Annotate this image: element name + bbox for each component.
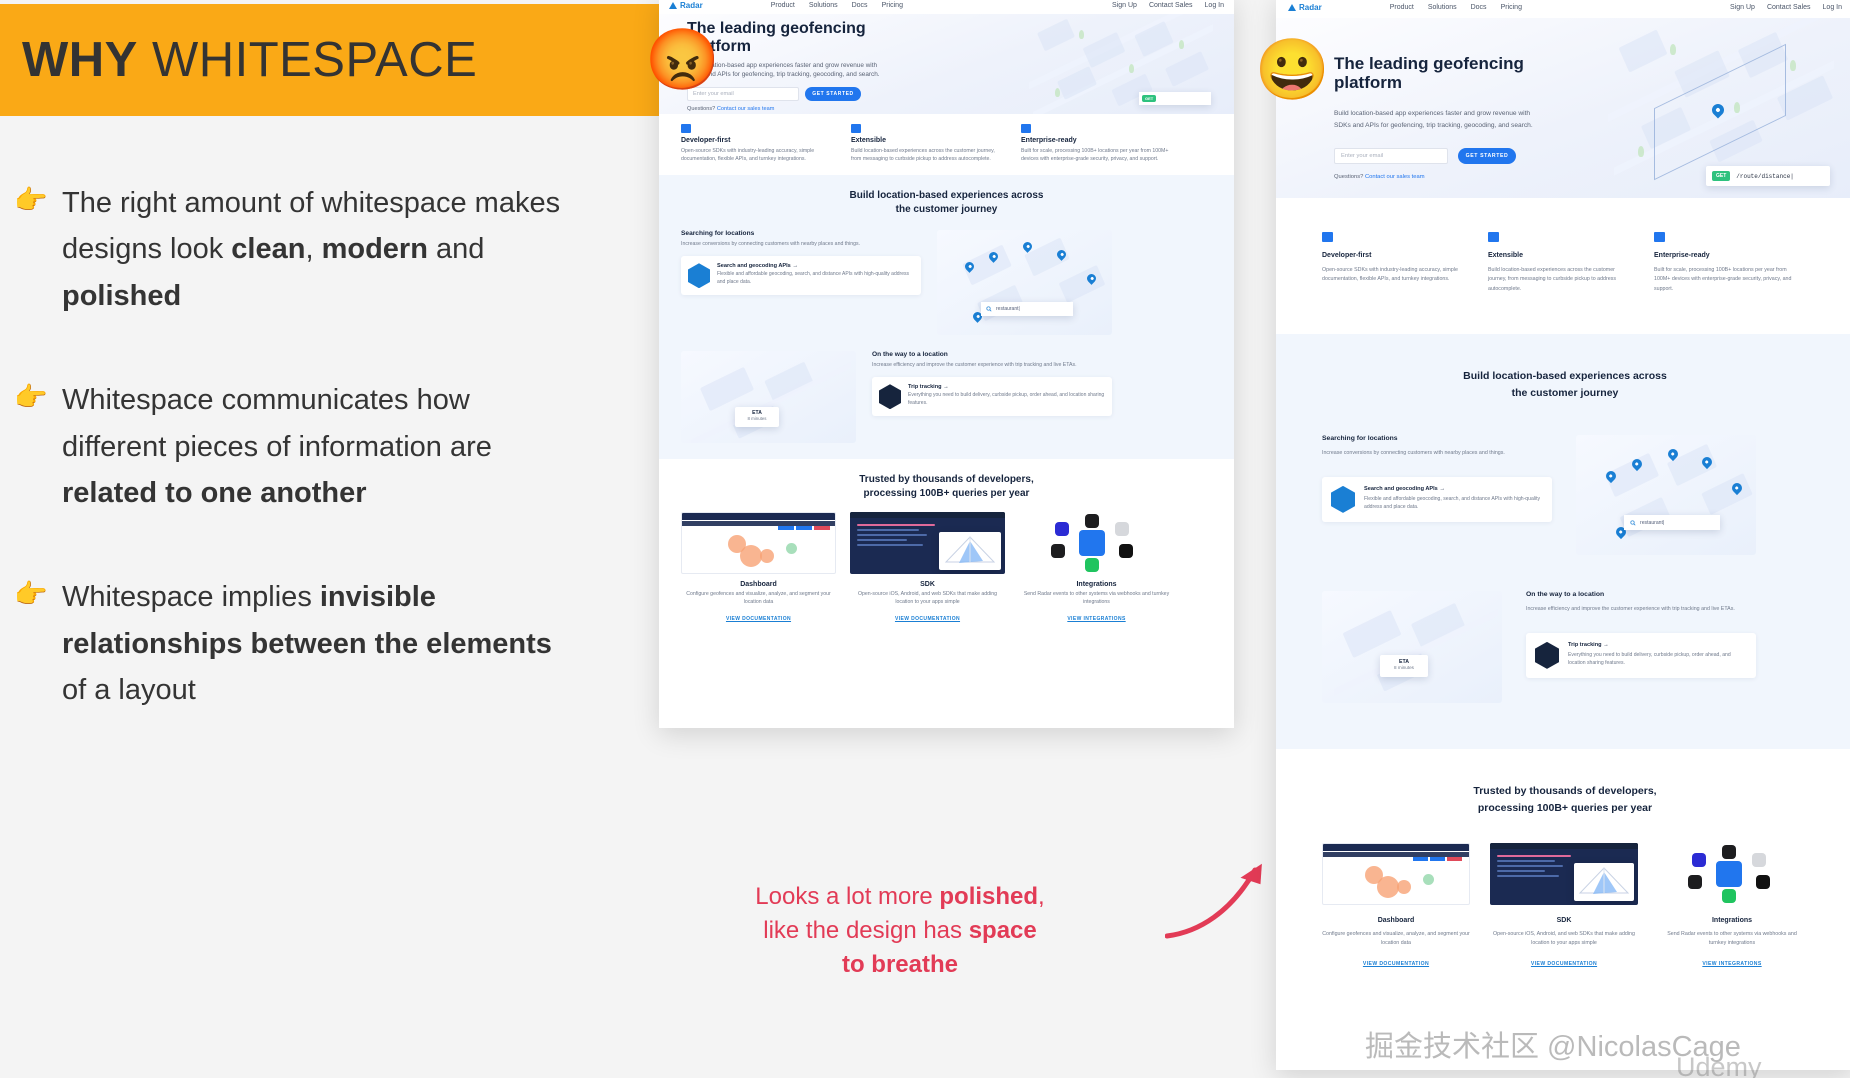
sliders-icon: [1488, 232, 1499, 242]
page-title-bold: WHY: [22, 33, 138, 87]
trip-pin-icon: [879, 384, 901, 409]
annotation-line-1: Looks a lot more polished,: [700, 880, 1100, 914]
feature-enterprise-ready: Enterprise-ready Built for scale, proces…: [1654, 232, 1794, 294]
annotation-emph: space: [969, 917, 1037, 944]
dashboard-screenshot: [681, 512, 836, 574]
page-title-rest: WHITESPACE: [138, 33, 477, 87]
search-api-card[interactable]: Search and geocoding APIs → Flexible and…: [1322, 477, 1552, 522]
isometric-city-illustration: GET /route/distance|: [1594, 18, 1850, 198]
annotation-emph: polished: [939, 883, 1038, 910]
get-started-button[interactable]: GET STARTED: [1458, 148, 1516, 164]
integrations-diagram: [1658, 843, 1806, 905]
nav-product[interactable]: Product: [1390, 4, 1414, 11]
journey-block-2: ETA 8 minutes On the way to a location I…: [681, 351, 1212, 443]
bullet-emph: clean: [231, 233, 305, 265]
bullet-text: Whitespace implies invisible relationshi…: [62, 574, 562, 713]
nav-pricing[interactable]: Pricing: [882, 2, 903, 9]
nav-solutions[interactable]: Solutions: [1428, 4, 1457, 11]
view-documentation-link[interactable]: VIEW DOCUMENTATION: [726, 616, 791, 622]
contact-sales-link[interactable]: Contact our sales team: [717, 106, 775, 112]
trusted-section: Trusted by thousands of developers, proc…: [1276, 749, 1850, 999]
view-documentation-link[interactable]: VIEW DOCUMENTATION: [1531, 961, 1597, 967]
title-banner: WHY WHITESPACE: [0, 4, 660, 116]
bullet-text: The right amount of whitespace makes des…: [62, 180, 562, 319]
hero-section: GET /route/distance| The leading geofenc…: [1276, 18, 1850, 198]
list-item: 👉 Whitespace implies invisible relations…: [0, 574, 600, 713]
nav-docs[interactable]: Docs: [1471, 4, 1487, 11]
nav-right: Sign Up Contact Sales Log In: [1112, 2, 1224, 9]
annotation-part: like the design has: [763, 917, 968, 944]
trusted-heading: Trusted by thousands of developers, proc…: [681, 473, 1212, 500]
brand-name: Radar: [680, 1, 703, 10]
page-title: WHY WHITESPACE: [0, 32, 477, 88]
hero-subtext: Build location-based app experiences fas…: [687, 61, 937, 80]
map-illustration-trip: ETA 8 minutes: [681, 351, 856, 443]
brand-name: Radar: [1299, 3, 1322, 12]
list-item: 👉 The right amount of whitespace makes d…: [0, 180, 600, 319]
bullet-part: and: [428, 233, 484, 265]
contact-sales-link[interactable]: Contact our sales team: [1365, 174, 1425, 180]
view-documentation-link[interactable]: VIEW DOCUMENTATION: [1363, 961, 1429, 967]
bullet-part: Whitespace implies: [62, 581, 320, 613]
trusted-section: Trusted by thousands of developers, proc…: [659, 459, 1234, 639]
radar-chart-icon: [1574, 863, 1634, 901]
nav-contact-sales[interactable]: Contact Sales: [1767, 4, 1811, 11]
email-field[interactable]: Enter your email: [1334, 148, 1448, 164]
nav-pricing[interactable]: Pricing: [1501, 4, 1522, 11]
dashboard-screenshot: [1322, 843, 1470, 905]
trusted-columns: Dashboard Configure geofences and visual…: [681, 512, 1212, 625]
feature-extensible: Extensible Build location-based experien…: [1488, 232, 1628, 294]
trusted-columns: Dashboard Configure geofences and visual…: [1322, 843, 1808, 970]
hero-section: GET The leading geofencing platform Buil…: [659, 14, 1234, 114]
angry-face-emoji: 😡: [645, 30, 720, 90]
sdk-screenshot: [1490, 843, 1638, 905]
bullet-emph: polished: [62, 280, 181, 312]
map-illustration-search: restaurant|: [1576, 435, 1756, 555]
feature-developer-first: Developer-first Open-source SDKs with in…: [1322, 232, 1462, 294]
feature-strip: Developer-first Open-source SDKs with in…: [659, 114, 1234, 175]
trusted-integrations: Integrations Send Radar events to other …: [1658, 843, 1806, 970]
search-pin-icon: [1331, 486, 1355, 513]
view-documentation-link[interactable]: VIEW DOCUMENTATION: [895, 616, 960, 622]
terminal-icon: [681, 124, 691, 133]
map-search-input[interactable]: restaurant|: [981, 302, 1073, 316]
nav-main: Product Solutions Docs Pricing: [771, 2, 903, 9]
feature-extensible: Extensible Build location-based experien…: [851, 124, 1001, 163]
journey-block-1: Searching for locations Increase convers…: [681, 230, 1212, 335]
nav-docs[interactable]: Docs: [852, 2, 868, 9]
sliders-icon: [851, 124, 861, 133]
annotation-part: Looks a lot more: [755, 883, 939, 910]
radar-app-icon: [1079, 530, 1105, 556]
radar-chart-icon: [939, 532, 1001, 570]
trusted-dashboard: Dashboard Configure geofences and visual…: [1322, 843, 1470, 970]
trusted-sdk: SDK Open-source iOS, Android, and web SD…: [850, 512, 1005, 625]
bullet-part: of a layout: [62, 674, 196, 706]
map-illustration-trip: ETA 8 minutes: [1322, 591, 1502, 703]
hero-heading: The leading geofencing platform: [1334, 54, 1584, 92]
site-nav: Radar Product Solutions Docs Pricing Sig…: [1276, 0, 1850, 18]
pointing-hand-emoji: 👉: [0, 377, 62, 516]
trip-tracking-card[interactable]: Trip tracking → Everything you need to b…: [872, 377, 1112, 416]
list-item: 👉 Whitespace communicates how different …: [0, 377, 600, 516]
grinning-face-emoji: 😀: [1255, 40, 1330, 100]
search-icon: [986, 306, 992, 312]
search-pin-icon: [688, 263, 710, 288]
annotation-text: Looks a lot more polished, like the desi…: [700, 880, 1100, 982]
website-mock-spacious: Radar Product Solutions Docs Pricing Sig…: [1276, 0, 1850, 1070]
website-mock-cramped: Radar Product Solutions Docs Pricing Sig…: [659, 0, 1234, 728]
search-api-card[interactable]: Search and geocoding APIs → Flexible and…: [681, 256, 921, 295]
nav-sign-up[interactable]: Sign Up: [1112, 2, 1137, 9]
trip-pin-icon: [1535, 642, 1559, 669]
nav-right: Sign Up Contact Sales Log In: [1730, 4, 1842, 11]
journey-block-1: Searching for locations Increase convers…: [1322, 435, 1808, 555]
bullet-text: Whitespace communicates how different pi…: [62, 377, 562, 516]
nav-contact-sales[interactable]: Contact Sales: [1149, 2, 1193, 9]
pointing-hand-emoji: 👉: [0, 574, 62, 713]
nav-product[interactable]: Product: [771, 2, 795, 9]
view-integrations-link[interactable]: VIEW INTEGRATIONS: [1702, 961, 1761, 967]
journey-section: Build location-based experiences across …: [659, 175, 1234, 459]
trusted-dashboard: Dashboard Configure geofences and visual…: [681, 512, 836, 625]
nav-main: Product Solutions Docs Pricing: [1390, 4, 1522, 11]
map-search-input[interactable]: restaurant|: [1624, 515, 1720, 530]
view-integrations-link[interactable]: VIEW INTEGRATIONS: [1067, 616, 1125, 622]
get-started-button[interactable]: GET STARTED: [805, 87, 861, 101]
radar-triangle-icon: [669, 2, 677, 9]
nav-log-in[interactable]: Log In: [1823, 4, 1842, 11]
radar-logo[interactable]: Radar: [669, 1, 703, 10]
annotation-emph: to breathe: [842, 951, 958, 978]
feature-strip: Developer-first Open-source SDKs with in…: [1276, 198, 1850, 334]
journey-heading: Build location-based experiences across …: [1322, 368, 1808, 402]
feature-enterprise-ready: Enterprise-ready Built for scale, proces…: [1021, 124, 1171, 163]
site-nav: Radar Product Solutions Docs Pricing Sig…: [659, 0, 1234, 14]
trip-tracking-card[interactable]: Trip tracking → Everything you need to b…: [1526, 633, 1756, 678]
integrations-diagram: [1019, 512, 1174, 574]
bullet-emph: related to one another: [62, 477, 367, 509]
bar-chart-icon: [1654, 232, 1665, 242]
nav-sign-up[interactable]: Sign Up: [1730, 4, 1755, 11]
bullet-list: 👉 The right amount of whitespace makes d…: [0, 180, 600, 772]
map-illustration-search: restaurant|: [937, 230, 1112, 335]
pointing-hand-emoji: 👉: [0, 180, 62, 319]
trusted-sdk: SDK Open-source iOS, Android, and web SD…: [1490, 843, 1638, 970]
hero-subtext: Build location-based app experiences fas…: [1334, 108, 1596, 132]
slide-canvas: WHY WHITESPACE 👉 The right amount of whi…: [0, 0, 1850, 1078]
radar-triangle-icon: [1288, 4, 1296, 11]
nav-log-in[interactable]: Log In: [1205, 2, 1224, 9]
radar-app-icon: [1716, 861, 1742, 887]
sdk-screenshot: [850, 512, 1005, 574]
api-endpoint-chip: GET /route/distance|: [1706, 166, 1830, 186]
nav-solutions[interactable]: Solutions: [809, 2, 838, 9]
trusted-heading: Trusted by thousands of developers, proc…: [1322, 783, 1808, 817]
feature-developer-first: Developer-first Open-source SDKs with in…: [681, 124, 831, 163]
annotation-line-2: like the design has space: [700, 914, 1100, 948]
bar-chart-icon: [1021, 124, 1031, 133]
search-icon: [1630, 520, 1636, 526]
bullet-part: ,: [305, 233, 321, 265]
bullet-part: Whitespace communicates how different pi…: [62, 384, 492, 462]
hero-heading: The leading geofencing platform: [687, 20, 917, 56]
journey-block-2: ETA 8 minutes On the way to a location I…: [1322, 591, 1808, 703]
journey-section: Build location-based experiences across …: [1276, 334, 1850, 750]
annotation-part: ,: [1038, 883, 1045, 910]
terminal-icon: [1322, 232, 1333, 242]
isometric-city-illustration: GET: [1019, 14, 1234, 114]
annotation-line-3: to breathe: [700, 948, 1100, 982]
journey-heading: Build location-based experiences across …: [681, 189, 1212, 216]
trusted-integrations: Integrations Send Radar events to other …: [1019, 512, 1174, 625]
radar-logo[interactable]: Radar: [1288, 3, 1322, 12]
bullet-emph: modern: [322, 233, 428, 265]
